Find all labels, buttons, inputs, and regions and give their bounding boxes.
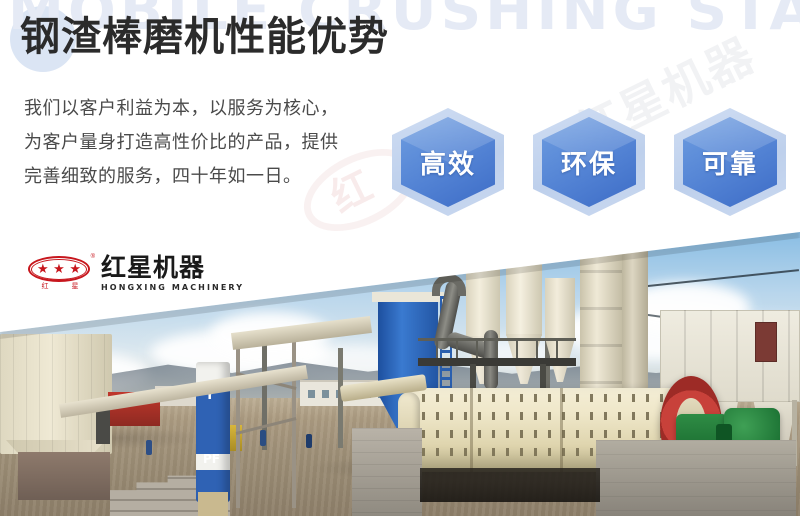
company-logo[interactable]: ★ ★ ★ 红 星 ® 红星机器 HONGXING MACHINERY: [28, 254, 244, 292]
star-icon: ★: [37, 262, 49, 275]
feature-badge-reliable[interactable]: 可靠: [674, 108, 786, 216]
mill-underframe: [420, 468, 600, 502]
steel-platform: [418, 358, 576, 366]
registered-mark-icon: ®: [91, 254, 95, 260]
foundation-texture: [352, 428, 422, 516]
cyclone-separator: [545, 278, 575, 340]
rod-mill-bolts: [408, 412, 692, 420]
column-base: [198, 492, 228, 516]
foundation-texture: [596, 440, 796, 516]
description-paragraph: 我们以客户利益为本，以服务为核心，为客户量身打造高性价比的产品，提供完善细致的服…: [24, 92, 344, 194]
logo-star-oval-icon: ★ ★ ★ 红 星 ®: [28, 254, 92, 292]
feature-badges: 高效 环保 可靠: [392, 108, 786, 216]
star-icon: ★: [53, 262, 65, 275]
logo-sub-right: 星: [72, 281, 79, 291]
logo-name-cn: 红星机器: [101, 254, 244, 281]
dust-collector-hatch: [755, 322, 777, 362]
feature-badge-eco[interactable]: 环保: [533, 108, 645, 216]
platform-railing: [418, 338, 576, 358]
rod-mill-seam: [560, 388, 563, 472]
feature-badge-efficient[interactable]: 高效: [392, 108, 504, 216]
logo-name-en: HONGXING MACHINERY: [101, 283, 244, 292]
feature-badge-label: 可靠: [674, 108, 786, 216]
logo-sub-left: 红: [42, 281, 49, 291]
left-pedestal: [18, 452, 110, 500]
banner-stage: Y PF: [0, 0, 800, 516]
worker: [306, 434, 312, 448]
feature-badge-label: 环保: [533, 108, 645, 216]
rod-mill-seam: [470, 388, 473, 472]
rod-mill-bolts: [408, 394, 692, 402]
feature-badge-label: 高效: [392, 108, 504, 216]
worker: [146, 440, 152, 455]
page-title: 钢渣棒磨机性能优势: [20, 14, 389, 60]
worker: [260, 430, 266, 446]
star-icon: ★: [69, 262, 81, 275]
column-letter: PF: [203, 452, 227, 468]
rod-mill-bolts: [408, 430, 692, 438]
